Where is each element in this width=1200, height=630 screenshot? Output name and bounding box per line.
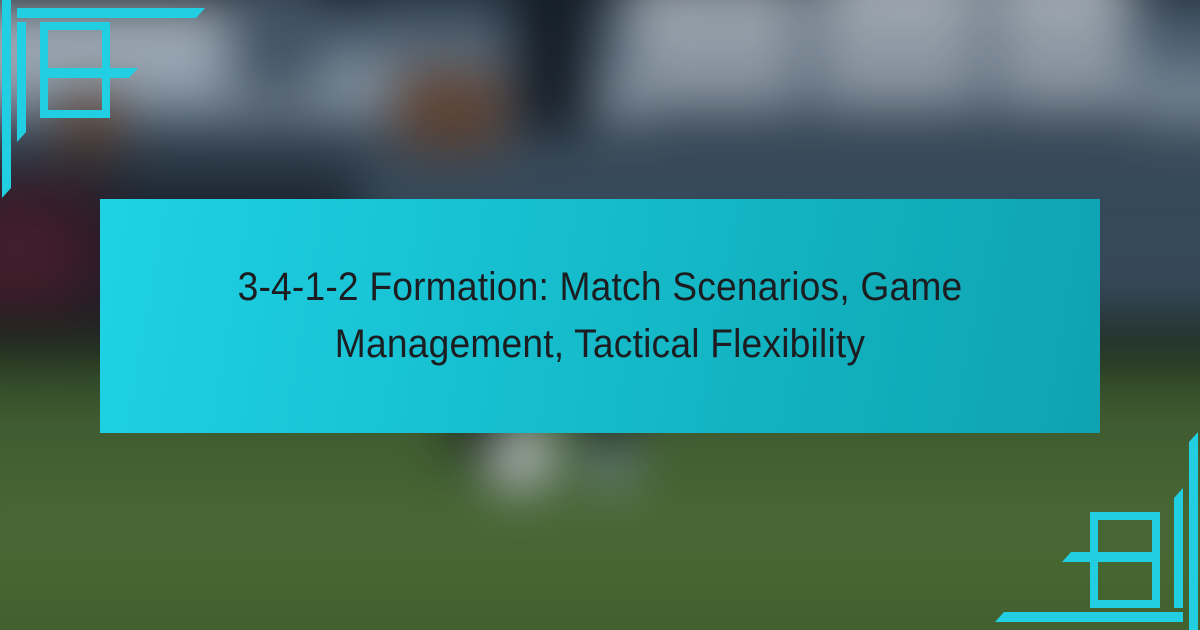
title-banner: 3-4-1-2 Formation: Match Scenarios, Game…: [100, 199, 1100, 433]
share-card: 3-4-1-2 Formation: Match Scenarios, Game…: [0, 0, 1200, 630]
page-title: 3-4-1-2 Formation: Match Scenarios, Game…: [191, 259, 1009, 373]
